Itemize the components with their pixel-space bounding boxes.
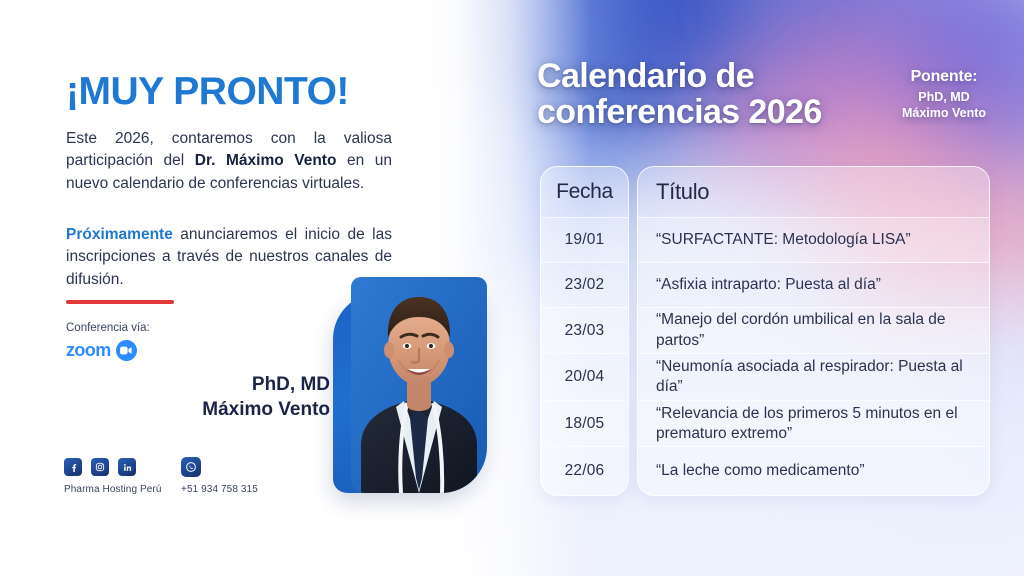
- announcement-paragraph: Próximamente anunciaremos el inicio de l…: [66, 224, 392, 291]
- calendar-title-line1: Calendario de: [537, 58, 877, 94]
- facebook-icon[interactable]: [64, 458, 82, 476]
- table-row: “Asfixia intraparto: Puesta al día”: [638, 263, 989, 308]
- conference-schedule-table: Fecha 19/01 23/02 23/03 20/04 18/05 22/0…: [540, 166, 990, 496]
- doctor-name-inline: Dr. Máximo Vento: [195, 152, 337, 169]
- date-column-card: Fecha 19/01 23/02 23/03 20/04 18/05 22/0…: [540, 166, 629, 496]
- speaker-credit: PhD, MD Máximo Vento: [0, 372, 330, 423]
- table-row: 19/01: [541, 218, 628, 263]
- table-row: 23/02: [541, 263, 628, 308]
- poster-canvas: ¡MUY PRONTO! Este 2026, contaremos con l…: [0, 0, 1024, 576]
- ponente-degree: PhD, MD: [874, 90, 1014, 106]
- table-header-date: Fecha: [541, 167, 628, 218]
- speaker-name: Máximo Vento: [0, 397, 330, 422]
- speaker-photo: [351, 277, 487, 493]
- table-row: “La leche como medicamento”: [638, 447, 989, 495]
- phone-number: +51 934 758 315: [181, 484, 258, 495]
- left-content-column: ¡MUY PRONTO! Este 2026, contaremos con l…: [0, 0, 430, 576]
- zoom-logo: zoom: [66, 340, 137, 361]
- conference-via-label: Conferencia vía:: [66, 322, 150, 334]
- table-row: “Neumonía asociada al respirador: Puesta…: [638, 354, 989, 401]
- table-row: 18/05: [541, 401, 628, 448]
- instagram-icon[interactable]: [91, 458, 109, 476]
- table-header-title: Título: [638, 167, 989, 218]
- ponente-block: Ponente: PhD, MD Máximo Vento: [874, 68, 1014, 122]
- red-divider: [66, 300, 174, 304]
- social-links: [64, 458, 136, 476]
- page-title: ¡MUY PRONTO!: [66, 72, 349, 111]
- zoom-wordmark: zoom: [66, 340, 111, 361]
- calendar-title: Calendario de conferencias 2026: [537, 58, 877, 130]
- table-row: 20/04: [541, 354, 628, 401]
- intro-paragraph: Este 2026, contaremos con la valiosa par…: [66, 128, 392, 195]
- calendar-title-line2: conferencias 2026: [537, 94, 877, 130]
- table-row: “Relevancia de los primeros 5 minutos en…: [638, 401, 989, 448]
- table-row: 23/03: [541, 308, 628, 355]
- speaker-degree: PhD, MD: [0, 372, 330, 397]
- proximamente-highlight: Próximamente: [66, 226, 173, 243]
- whatsapp-icon[interactable]: [181, 457, 201, 477]
- video-camera-icon: [116, 340, 137, 361]
- ponente-details: PhD, MD Máximo Vento: [874, 90, 1014, 122]
- title-column-card: Título “SURFACTANTE: Metodología LISA” “…: [637, 166, 990, 496]
- ponente-name: Máximo Vento: [874, 106, 1014, 122]
- table-row: “SURFACTANTE: Metodología LISA”: [638, 218, 989, 263]
- table-row: 22/06: [541, 447, 628, 495]
- ponente-label: Ponente:: [874, 68, 1014, 86]
- table-row: “Manejo del cordón umbilical en la sala …: [638, 308, 989, 355]
- brand-name: Pharma Hosting Perú: [64, 484, 162, 495]
- linkedin-icon[interactable]: [118, 458, 136, 476]
